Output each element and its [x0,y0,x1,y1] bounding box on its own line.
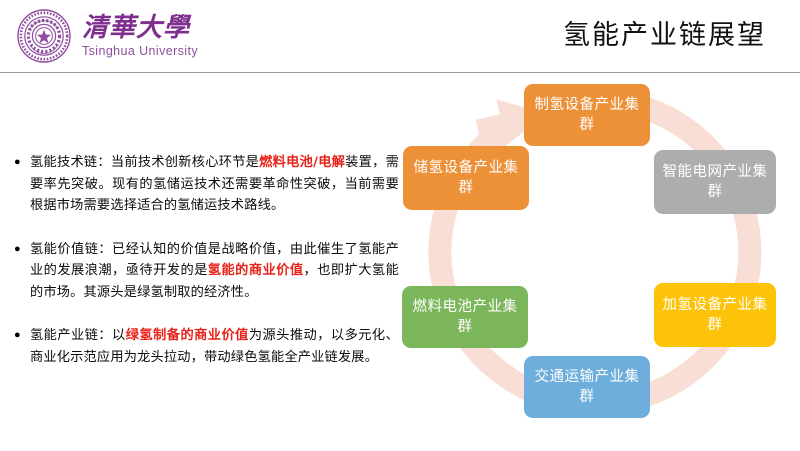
cycle-node-label: 储氢设备产业集群 [409,158,523,198]
bullet-text-2: 氢能价值链：已经认知的价值是战略价值，由此催生了氢能产业的发展浪潮，亟待开发的是… [30,239,399,304]
list-item: ● 氢能价值链：已经认知的价值是战略价值，由此催生了氢能产业的发展浪潮，亟待开发… [14,239,399,304]
industry-chain-cycle-diagram: 制氢设备产业集群 智能电网产业集群 加氢设备产业集群 交通运输产业集群 燃料电池… [398,78,793,446]
cycle-node-label: 交通运输产业集群 [530,367,644,407]
bullet-text-1: 氢能技术链：当前技术创新核心环节是燃料电池/电解装置，需要率先突破。现有的氢储运… [30,152,399,217]
list-item: ● 氢能技术链：当前技术创新核心环节是燃料电池/电解装置，需要率先突破。现有的氢… [14,152,399,217]
logo-name-en: Tsinghua University [82,45,198,58]
cycle-node-label: 燃料电池产业集群 [408,297,522,337]
bullet-text-3: 氢能产业链：以绿氢制备的商业价值为源头推动，以多元化、商业化示范应用为龙头拉动，… [30,325,399,368]
cycle-node-label: 制氢设备产业集群 [530,95,644,135]
header-divider [0,72,800,73]
bullet-segment: 氢能技术链：当前技术创新核心环节是 [30,155,259,170]
bullet-marker-icon: ● [14,325,30,346]
cycle-node-label: 加氢设备产业集群 [660,295,770,335]
cycle-node-label: 智能电网产业集群 [660,162,770,202]
cycle-node-ranliao[interactable]: 燃料电池产业集群 [402,286,528,348]
bullet-marker-icon: ● [14,239,30,260]
bullet-segment-highlight: 氢能的商业价值 [208,263,304,278]
cycle-node-jiaqing[interactable]: 加氢设备产业集群 [654,283,776,347]
slide-header: 清華大學 Tsinghua University 氢能产业链展望 [0,0,800,73]
list-item: ● 氢能产业链：以绿氢制备的商业价值为源头推动，以多元化、商业化示范应用为龙头拉… [14,325,399,368]
page-title: 氢能产业链展望 [563,13,766,52]
cycle-node-jiaotong[interactable]: 交通运输产业集群 [524,356,650,418]
cycle-node-zhineng[interactable]: 智能电网产业集群 [654,150,776,214]
bullet-segment: 氢能产业链：以 [30,328,126,343]
tsinghua-logo: 清華大學 Tsinghua University [16,6,216,66]
tsinghua-seal-icon [16,8,72,64]
logo-wordmark: 清華大學 Tsinghua University [82,15,198,58]
bullet-marker-icon: ● [14,152,30,173]
cycle-node-chuqing[interactable]: 储氢设备产业集群 [403,146,529,210]
logo-name-cn: 清華大學 [82,15,198,41]
bullet-segment-highlight: 燃料电池/电解 [259,155,345,170]
bullet-list: ● 氢能技术链：当前技术创新核心环节是燃料电池/电解装置，需要率先突破。现有的氢… [14,152,399,390]
cycle-node-zhiqing[interactable]: 制氢设备产业集群 [524,84,650,146]
bullet-segment-highlight: 绿氢制备的商业价值 [126,328,249,343]
